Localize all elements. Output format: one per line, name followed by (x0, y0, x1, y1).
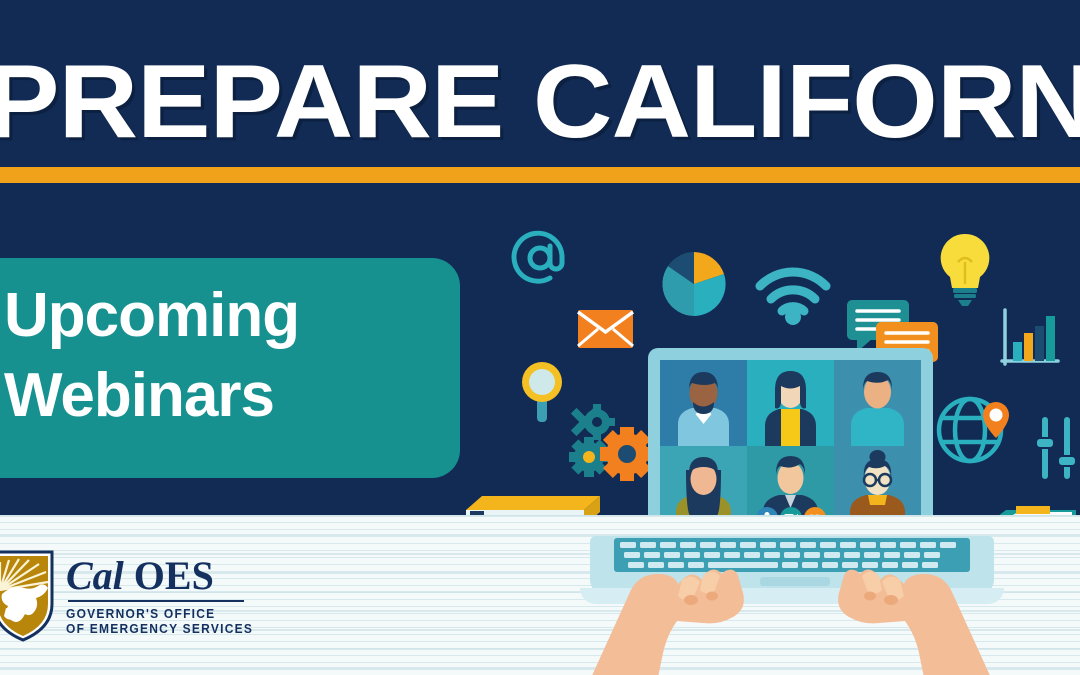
right-hand (838, 570, 992, 675)
logo-subtitle-line-2: OF EMERGENCY SERVICES (66, 622, 258, 637)
upcoming-webinars-badge: Upcoming Webinars (0, 258, 460, 478)
participant-tile[interactable] (747, 360, 834, 446)
cal-oes-logo: Cal OES GOVERNOR'S OFFICE OF EMERGENCY S… (0, 548, 270, 652)
sliders-icon (1035, 418, 1080, 480)
badge-line-1: Upcoming (4, 276, 460, 356)
typing-hands (560, 520, 1020, 675)
webinar-banner: PREPARE CALIFORNIA (0, 0, 1080, 675)
gears-icon (572, 402, 658, 480)
badge-line-2: Webinars (4, 356, 460, 436)
lightbulb-icon (938, 232, 992, 308)
logo-wordmark-cal: Cal (66, 553, 124, 598)
cal-oes-shield-icon (0, 550, 54, 642)
at-sign-icon (512, 228, 568, 288)
bar-chart-icon (1000, 308, 1062, 370)
magnifier-icon (520, 360, 566, 424)
globe-pin-icon (936, 390, 1014, 466)
pie-chart-icon (660, 250, 728, 318)
logo-wordmark-oes: OES (134, 553, 214, 598)
participant-tile[interactable] (834, 360, 921, 446)
logo-subtitle-line-1: GOVERNOR'S OFFICE (66, 607, 258, 622)
logo-wordmark: Cal OES (66, 554, 266, 598)
video-call-grid (660, 360, 921, 532)
left-hand (590, 570, 744, 675)
envelope-icon (578, 310, 633, 348)
logo-divider (68, 600, 244, 602)
participant-tile[interactable] (660, 360, 747, 446)
wifi-icon (754, 262, 832, 324)
